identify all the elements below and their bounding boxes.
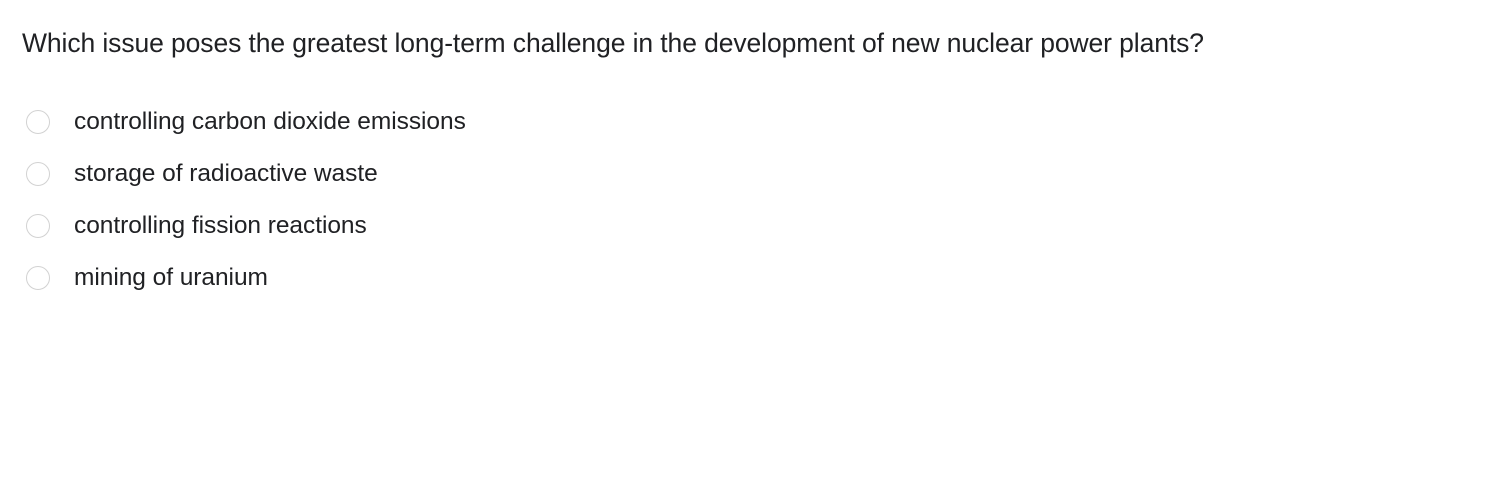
answer-option-3[interactable]: controlling fission reactions <box>0 200 1502 252</box>
answer-option-label: mining of uranium <box>74 264 268 292</box>
radio-unchecked-icon[interactable] <box>26 214 50 238</box>
radio-unchecked-icon[interactable] <box>26 110 50 134</box>
answer-options-group: controlling carbon dioxide emissions sto… <box>0 96 1502 304</box>
answer-option-label: controlling carbon dioxide emissions <box>74 108 466 136</box>
answer-option-label: storage of radioactive waste <box>74 160 378 188</box>
answer-option-2[interactable]: storage of radioactive waste <box>0 148 1502 200</box>
radio-unchecked-icon[interactable] <box>26 162 50 186</box>
quiz-question-panel: Which issue poses the greatest long-term… <box>0 0 1502 488</box>
radio-unchecked-icon[interactable] <box>26 266 50 290</box>
question-prompt: Which issue poses the greatest long-term… <box>22 26 1204 60</box>
answer-option-4[interactable]: mining of uranium <box>0 252 1502 304</box>
answer-option-label: controlling fission reactions <box>74 212 367 240</box>
answer-option-1[interactable]: controlling carbon dioxide emissions <box>0 96 1502 148</box>
